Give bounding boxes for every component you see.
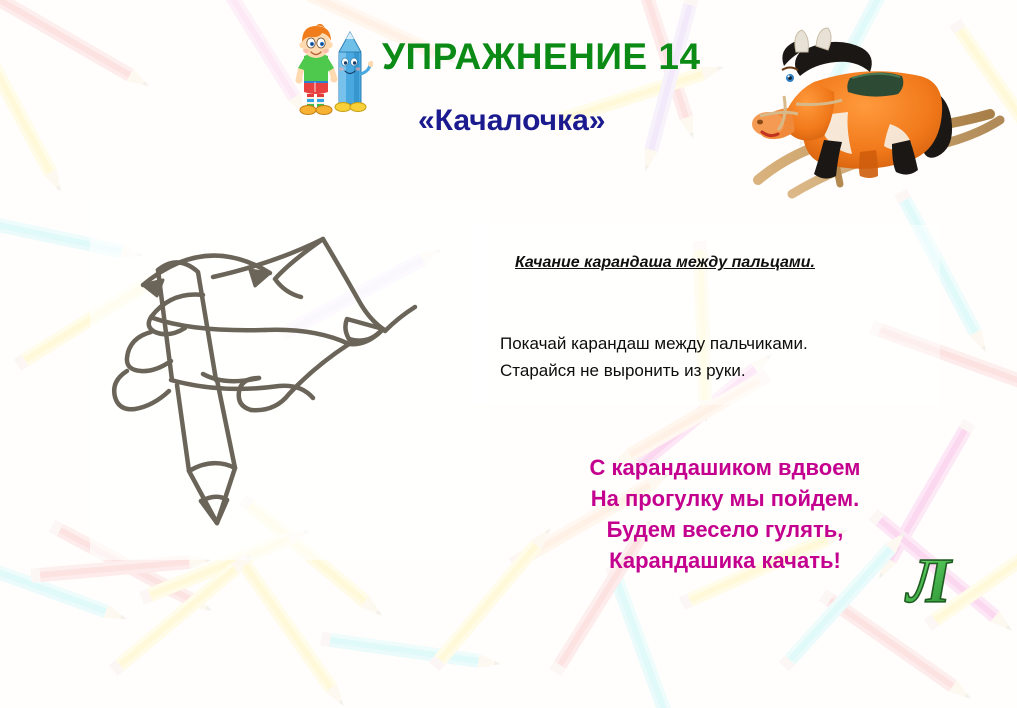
hand-holding-pencil-drawing [95,225,455,535]
body-line-2: Старайся не выронить из руки. [500,357,808,384]
letter-glyph: Л [904,545,953,616]
slide-canvas: УПРАЖНЕНИЕ 14 «Качалочка» [0,0,1017,708]
poem-block: С карандашиком вдвоем На прогулку мы пой… [550,452,900,576]
rocking-horse-photo [740,12,1012,202]
page-title: УПРАЖНЕНИЕ 14 [382,36,701,78]
poem-line: С карандашиком вдвоем [550,452,900,483]
poem-line: Будем весело гулять, [550,514,900,545]
exercise-lead-text: Качание карандаша между пальцами. [515,254,815,272]
poem-line: На прогулку мы пойдем. [550,483,900,514]
boy-with-pencil-clipart [283,22,373,122]
body-line-1: Покачай карандаш между пальчиками. [500,330,808,357]
poem-line: Карандашика качать! [550,545,900,576]
exercise-body-text: Покачай карандаш между пальчиками. Стара… [500,330,808,384]
cursive-letter-badge: Л [893,540,965,618]
page-subtitle: «Качалочка» [418,104,605,138]
